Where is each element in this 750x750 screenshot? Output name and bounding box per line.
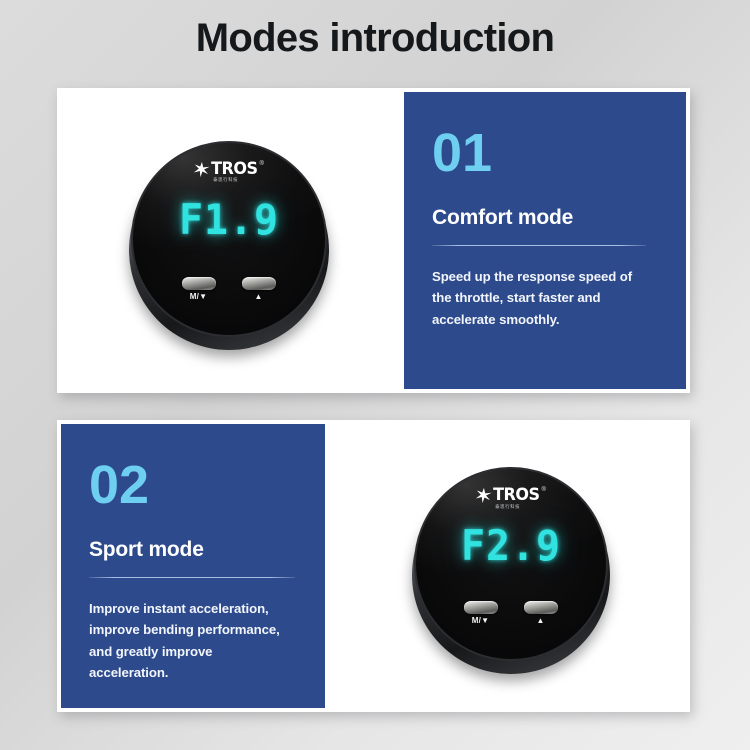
brand-text-block: TROS 泰思行科技: [493, 486, 539, 509]
mode-title: Sport mode: [89, 538, 295, 562]
device-pane: TROS 泰思行科技 ® F1.9 M/▼ ▲: [57, 88, 400, 393]
brand-text-block: TROS 泰思行科技: [211, 160, 257, 183]
mode-down-button-label: M/▼: [472, 617, 489, 625]
divider: [89, 577, 295, 578]
divider: [432, 245, 646, 246]
device-display-readout: F1.9: [137, 195, 319, 244]
device-face: TROS 泰思行科技 ® F1.9 M/▼ ▲: [131, 141, 327, 337]
mode-up-button-label: ▲: [536, 617, 544, 625]
mode-card-comfort: TROS 泰思行科技 ® F1.9 M/▼ ▲: [57, 88, 690, 393]
button-cap[interactable]: [464, 601, 498, 614]
mode-description: Speed up the response speed of the throt…: [432, 266, 647, 330]
mode-description: Improve instant acceleration, improve be…: [89, 598, 295, 684]
device-button-row: M/▼ ▲: [133, 277, 325, 301]
brand-logo: TROS 泰思行科技 ®: [416, 486, 606, 509]
mode-down-button-label: M/▼: [190, 293, 207, 301]
mode-number: 02: [89, 458, 295, 512]
brand-logo: TROS 泰思行科技 ®: [133, 160, 325, 183]
registered-trademark-icon: ®: [259, 161, 263, 167]
info-pane-sport: 02 Sport mode Improve instant accelerati…: [57, 420, 329, 712]
page-title: Modes introduction: [0, 16, 750, 61]
brand-subtitle: 泰思行科技: [213, 178, 238, 182]
button-cap[interactable]: [182, 277, 216, 290]
device-button-row: M/▼ ▲: [416, 601, 606, 625]
registered-trademark-icon: ®: [541, 487, 545, 493]
device-pane: TROS 泰思行科技 ® F2.9 M/▼ ▲: [329, 420, 690, 712]
device-face: TROS 泰思行科技 ® F2.9 M/▼ ▲: [414, 467, 608, 661]
mode-title: Comfort mode: [432, 206, 656, 230]
brand-subtitle: 泰思行科技: [495, 505, 520, 509]
info-pane-comfort: 01 Comfort mode Speed up the response sp…: [400, 88, 690, 393]
mode-down-button[interactable]: M/▼: [182, 277, 216, 301]
mode-down-button[interactable]: M/▼: [464, 601, 498, 625]
brand-name: TROS: [493, 486, 539, 503]
mode-number: 01: [432, 126, 656, 180]
star-logo-icon: [475, 487, 492, 508]
button-cap[interactable]: [242, 277, 276, 290]
brand-name: TROS: [211, 160, 257, 177]
star-logo-icon: [193, 161, 210, 182]
mode-up-button[interactable]: ▲: [242, 277, 276, 301]
device-display-readout: F2.9: [420, 521, 601, 570]
mode-up-button-label: ▲: [254, 293, 262, 301]
throttle-controller-device: TROS 泰思行科技 ® F1.9 M/▼ ▲: [129, 141, 329, 341]
throttle-controller-device: TROS 泰思行科技 ® F2.9 M/▼ ▲: [412, 467, 610, 665]
button-cap[interactable]: [524, 601, 558, 614]
mode-card-sport: 02 Sport mode Improve instant accelerati…: [57, 420, 690, 712]
mode-up-button[interactable]: ▲: [524, 601, 558, 625]
